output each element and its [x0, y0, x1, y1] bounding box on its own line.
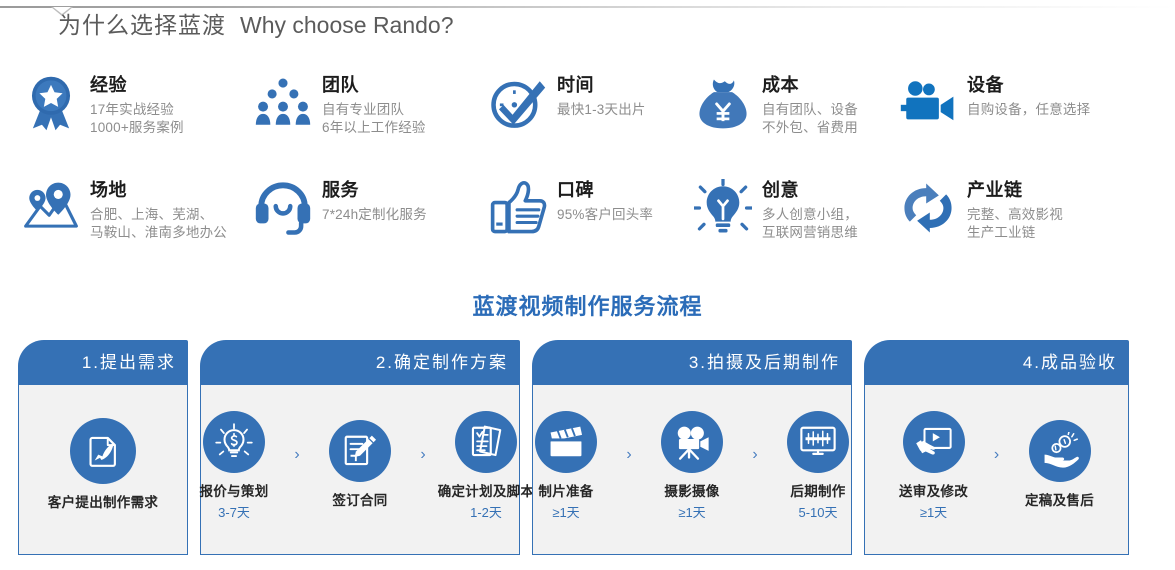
feature-icon-wrap [252, 177, 314, 239]
feature-text: 口碑95%客户回头率 [557, 173, 653, 224]
handshake-screen-icon [915, 423, 953, 461]
step-label: 定稿及售后 [1025, 492, 1094, 510]
process-card-content: 客户提出制作需求 [19, 385, 187, 554]
process-card-content: 送审及修改≥1天›定稿及售后 [865, 385, 1128, 554]
feature-text: 时间最快1-3天出片 [557, 68, 646, 119]
feature-item: 产业链完整、高效影视 生产工业链 [897, 173, 1142, 273]
feature-title: 设备 [967, 74, 1090, 96]
step-label: 报价与策划 [200, 483, 269, 501]
feature-text: 设备自购设备，任意选择 [967, 68, 1090, 119]
feature-item: 成本自有团队、设备 不外包、省费用 [692, 68, 897, 173]
process-card-body: 送审及修改≥1天›定稿及售后 [864, 385, 1129, 555]
feature-item: 场地合肥、上海、芜湖、 马鞍山、淮南多地办公 [20, 173, 252, 273]
process-card-heading: 4.成品验收 [1023, 353, 1117, 373]
process-card-body: 报价与策划3-7天›签订合同›确定计划及脚本1-2天 [200, 385, 520, 555]
step-chevron-icon: › [742, 446, 768, 464]
process-step: 客户提出制作需求 [28, 418, 178, 515]
feature-title: 口碑 [557, 179, 653, 201]
headset-support-icon [254, 179, 312, 237]
process-step: 后期制作5-10天 [768, 411, 868, 522]
step-icon-circle [70, 418, 136, 484]
process-step: 签订合同 [310, 420, 410, 513]
feature-text: 产业链完整、高效影视 生产工业链 [967, 173, 1063, 242]
process-card-header: 4.成品验收 [864, 340, 1129, 385]
thumbs-up-icon [489, 179, 547, 237]
feature-desc: 自有专业团队 6年以上工作经验 [322, 101, 426, 137]
feature-icon-wrap [692, 177, 754, 239]
step-icon-circle [903, 411, 965, 473]
process-card: 2.确定制作方案报价与策划3-7天›签订合同›确定计划及脚本1-2天 [200, 340, 520, 555]
process-card: 1.提出需求客户提出制作需求 [18, 340, 188, 555]
top-divider-line [0, 6, 1175, 8]
feature-desc: 完整、高效影视 生产工业链 [967, 206, 1063, 242]
process-card-body: 客户提出制作需求 [18, 385, 188, 555]
feature-title: 场地 [90, 179, 227, 201]
feature-text: 成本自有团队、设备 不外包、省费用 [762, 68, 858, 137]
step-icon-circle [661, 411, 723, 473]
process-card: 3.拍摄及后期制作制片准备≥1天›摄影摄像≥1天›后期制作5-10天 [532, 340, 852, 555]
step-duration: ≥1天 [552, 504, 579, 522]
process-card-heading: 1.提出需求 [82, 353, 176, 373]
process-card-heading: 2.确定制作方案 [376, 353, 508, 373]
step-icon-circle [535, 411, 597, 473]
feature-desc: 7*24h定制化服务 [322, 206, 427, 224]
process-step: 制片准备≥1天 [516, 411, 616, 522]
feature-desc: 合肥、上海、芜湖、 马鞍山、淮南多地办公 [90, 206, 227, 242]
lightbulb-dollar-icon [215, 423, 253, 461]
lightbulb-idea-icon [694, 179, 752, 237]
step-chevron-icon: › [984, 446, 1010, 464]
feature-item: 口碑95%客户回头率 [487, 173, 692, 273]
feature-text: 服务7*24h定制化服务 [322, 173, 427, 224]
step-icon-circle [455, 411, 517, 473]
step-chevron-icon: › [284, 446, 310, 464]
process-card-heading: 3.拍摄及后期制作 [689, 353, 840, 373]
movie-camera-icon [673, 423, 711, 461]
feature-title: 时间 [557, 74, 646, 96]
step-label: 送审及修改 [899, 483, 968, 501]
feature-desc: 自有团队、设备 不外包、省费用 [762, 101, 858, 137]
feature-icon-wrap [487, 177, 549, 239]
feature-icon-wrap [20, 177, 82, 239]
process-card-header: 3.拍摄及后期制作 [532, 340, 852, 385]
feature-item: 团队自有专业团队 6年以上工作经验 [252, 68, 487, 173]
step-duration: 1-2天 [470, 504, 502, 522]
feature-item: 经验17年实战经验 1000+服务案例 [20, 68, 252, 173]
process-card-content: 制片准备≥1天›摄影摄像≥1天›后期制作5-10天 [533, 385, 851, 554]
process-step-list: 送审及修改≥1天›定稿及售后 [884, 411, 1110, 522]
feature-icon-wrap [897, 72, 959, 134]
step-label: 签订合同 [332, 492, 387, 510]
feature-title: 成本 [762, 74, 858, 96]
process-card-header: 1.提出需求 [18, 340, 188, 385]
feature-grid: 经验17年实战经验 1000+服务案例团队自有专业团队 6年以上工作经验时间最快… [20, 68, 1170, 273]
clock-check-icon [489, 74, 547, 132]
feature-desc: 多人创意小组， 互联网营销思维 [762, 206, 858, 242]
step-chevron-icon: › [410, 446, 436, 464]
process-card-body: 制片准备≥1天›摄影摄像≥1天›后期制作5-10天 [532, 385, 852, 555]
feature-icon-wrap [252, 72, 314, 134]
document-pen-icon [84, 432, 122, 470]
feature-desc: 95%客户回头率 [557, 206, 653, 224]
clapperboard-icon [547, 423, 585, 461]
process-card-row: 1.提出需求客户提出制作需求2.确定制作方案报价与策划3-7天›签订合同›确定计… [18, 340, 1157, 555]
process-step-list: 报价与策划3-7天›签订合同›确定计划及脚本1-2天 [184, 411, 536, 522]
feature-icon-wrap [487, 72, 549, 134]
step-duration: ≥1天 [920, 504, 947, 522]
contract-sign-icon [341, 432, 379, 470]
process-step: 摄影摄像≥1天 [642, 411, 742, 522]
feature-text: 场地合肥、上海、芜湖、 马鞍山、淮南多地办公 [90, 173, 227, 242]
feature-text: 创意多人创意小组， 互联网营销思维 [762, 173, 858, 242]
feature-item: 设备自购设备，任意选择 [897, 68, 1142, 173]
feature-title: 经验 [90, 74, 184, 96]
map-location-pin-icon [22, 179, 80, 237]
feature-desc: 自购设备，任意选择 [967, 101, 1090, 119]
page-title: 为什么选择蓝渡Why choose Rando? [58, 9, 454, 41]
hand-coins-icon [1041, 432, 1079, 470]
feature-item: 服务7*24h定制化服务 [252, 173, 487, 273]
video-camera-icon [899, 74, 957, 132]
award-ribbon-icon [22, 74, 80, 132]
step-icon-circle [787, 411, 849, 473]
step-duration: ≥1天 [678, 504, 705, 522]
feature-icon-wrap [20, 72, 82, 134]
step-label: 客户提出制作需求 [48, 494, 158, 512]
process-step: 报价与策划3-7天 [184, 411, 284, 522]
step-chevron-icon: › [616, 446, 642, 464]
step-icon-circle [203, 411, 265, 473]
process-step-list: 制片准备≥1天›摄影摄像≥1天›后期制作5-10天 [516, 411, 868, 522]
process-step: 定稿及售后 [1010, 420, 1110, 513]
process-step: 送审及修改≥1天 [884, 411, 984, 522]
page-title-cn: 为什么选择蓝渡 [58, 12, 226, 38]
feature-title: 服务 [322, 179, 427, 201]
step-icon-circle [1029, 420, 1091, 482]
feature-title: 产业链 [967, 179, 1063, 201]
step-label: 制片准备 [538, 483, 593, 501]
step-duration: 5-10天 [798, 504, 837, 522]
feature-text: 经验17年实战经验 1000+服务案例 [90, 68, 184, 137]
feature-item: 创意多人创意小组， 互联网营销思维 [692, 173, 897, 273]
feature-desc: 17年实战经验 1000+服务案例 [90, 101, 184, 137]
process-step-list: 客户提出制作需求 [28, 418, 178, 515]
step-icon-circle [329, 420, 391, 482]
step-label: 摄影摄像 [664, 483, 719, 501]
process-card: 4.成品验收送审及修改≥1天›定稿及售后 [864, 340, 1129, 555]
money-bag-yuan-icon [694, 74, 752, 132]
feature-title: 创意 [762, 179, 858, 201]
feature-icon-wrap [692, 72, 754, 134]
page-title-en: Why choose Rando? [240, 12, 454, 38]
feature-desc: 最快1-3天出片 [557, 101, 646, 119]
step-label: 后期制作 [790, 483, 845, 501]
feature-icon-wrap [897, 177, 959, 239]
process-card-header: 2.确定制作方案 [200, 340, 520, 385]
team-people-icon [254, 74, 312, 132]
script-documents-icon [467, 423, 505, 461]
monitor-edit-icon [799, 423, 837, 461]
feature-text: 团队自有专业团队 6年以上工作经验 [322, 68, 426, 137]
feature-title: 团队 [322, 74, 426, 96]
flow-section-title: 蓝渡视频制作服务流程 [0, 289, 1175, 321]
step-duration: 3-7天 [218, 504, 250, 522]
feature-item: 时间最快1-3天出片 [487, 68, 692, 173]
process-card-content: 报价与策划3-7天›签订合同›确定计划及脚本1-2天 [201, 385, 519, 554]
recycle-arrows-icon [899, 179, 957, 237]
